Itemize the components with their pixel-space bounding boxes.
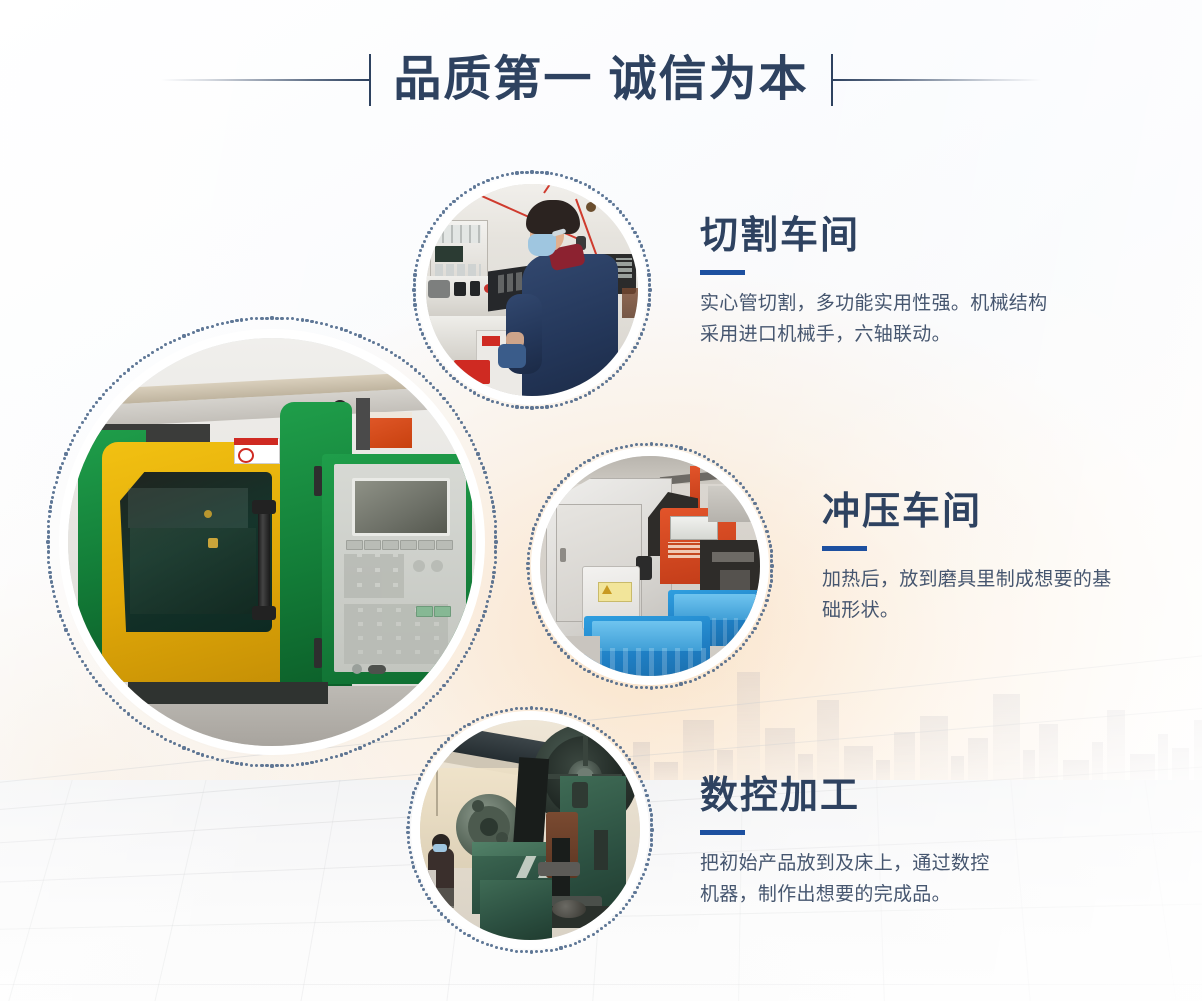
section-heading-cutting: 切割车间 <box>700 216 1130 258</box>
scene-cutting-workshop <box>426 184 638 396</box>
punch-press-photo <box>420 720 640 940</box>
section-block-cnc: 数控加工 把初始产品放到及床上，通过数控 机器，制作出想要的完成品。 <box>700 776 1100 910</box>
poster-canvas: 品质第一 诚信为本 <box>0 0 1202 1001</box>
section-photo-circle-stamping <box>526 442 774 690</box>
section-photo-circle-cutting <box>412 170 652 410</box>
section-photo-circle-cnc <box>406 706 654 954</box>
section-body-stamping: 加热后，放到磨具里制成想要的基 础形状。 <box>822 565 1182 627</box>
section-heading-cnc: 数控加工 <box>700 776 1100 818</box>
page-title: 品质第一 诚信为本 <box>371 56 830 104</box>
poster-header: 品质第一 诚信为本 <box>0 46 1202 114</box>
heading-underline <box>822 546 867 551</box>
section-body-cnc: 把初始产品放到及床上，通过数控 机器，制作出想要的完成品。 <box>700 849 1100 911</box>
cnc-lathe-worker-photo <box>426 184 638 396</box>
scene-cnc-machining <box>420 720 640 940</box>
heading-underline <box>700 270 745 275</box>
heading-underline <box>700 830 745 835</box>
section-block-stamping: 冲压车间 加热后，放到磨具里制成想要的基 础形状。 <box>822 492 1182 626</box>
header-rule-right <box>833 79 1041 81</box>
header-rule-left <box>161 79 369 81</box>
section-heading-stamping: 冲压车间 <box>822 492 1182 534</box>
stamping-workshop-photo <box>540 456 760 676</box>
section-body-cutting: 实心管切割，多功能实用性强。机械结构 采用进口机械手，六轴联动。 <box>700 289 1130 351</box>
scene-stamping-workshop <box>540 456 760 676</box>
section-block-cutting: 切割车间 实心管切割，多功能实用性强。机械结构 采用进口机械手，六轴联动。 <box>700 216 1130 350</box>
